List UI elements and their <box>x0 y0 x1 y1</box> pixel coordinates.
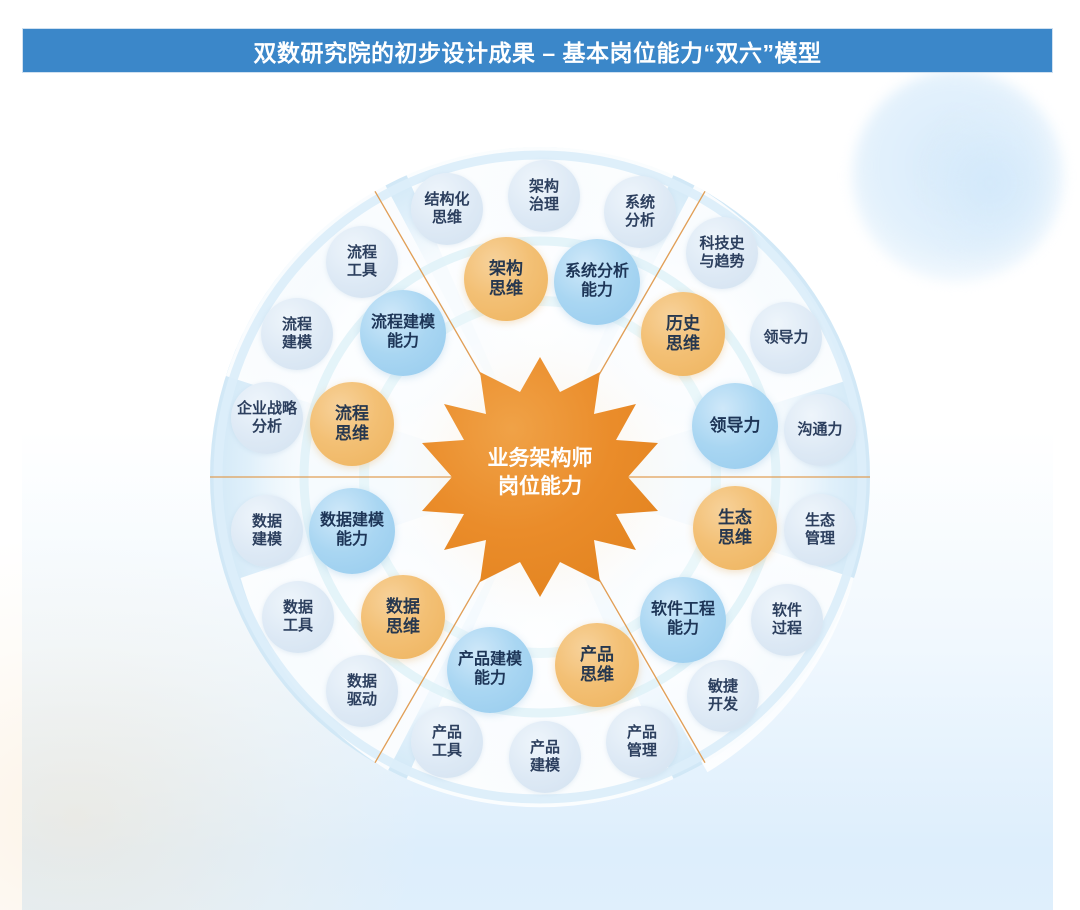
bubble-生态-capability[interactable]: 软件工程 能力 <box>640 577 726 663</box>
bubble-label: 科技史 与趋势 <box>699 235 744 270</box>
bubble-历史-knowledge-2[interactable]: 领导力 <box>750 302 822 374</box>
bubble-label: 领导力 <box>710 416 761 436</box>
bubble-历史-capability[interactable]: 领导力 <box>692 383 778 469</box>
bubble-label: 生态 管理 <box>805 512 835 547</box>
bubble-架构-capability[interactable]: 系统分析 能力 <box>554 239 640 325</box>
bubble-label: 历史 思维 <box>666 314 700 354</box>
bubble-label: 企业战略 分析 <box>237 400 297 435</box>
bubble-生态-knowledge-1[interactable]: 生态 管理 <box>784 494 856 566</box>
bubble-流程-knowledge-2[interactable]: 流程 建模 <box>261 298 333 370</box>
bubble-历史-knowledge-3[interactable]: 沟通力 <box>784 394 856 466</box>
bubble-label: 数据 驱动 <box>347 673 377 708</box>
bubble-label: 流程建模 能力 <box>371 314 435 352</box>
bubble-流程-knowledge-3[interactable]: 流程 工具 <box>326 226 398 298</box>
bubble-label: 结构化 思维 <box>424 191 469 226</box>
bubble-label: 产品建模 能力 <box>458 651 522 689</box>
bubble-产品-knowledge-3[interactable]: 产品 工具 <box>411 706 483 778</box>
bubble-流程-knowledge-1[interactable]: 企业战略 分析 <box>231 382 303 454</box>
bubble-数据-knowledge-3[interactable]: 数据 建模 <box>231 495 303 567</box>
bubble-label: 敏捷 开发 <box>708 678 738 713</box>
bubble-生态-core[interactable]: 生态 思维 <box>693 486 777 570</box>
bubble-label: 产品 工具 <box>432 724 462 759</box>
bubble-label: 系统分析 能力 <box>565 263 629 301</box>
bubble-label: 沟通力 <box>797 421 842 439</box>
page-title: 双数研究院的初步设计成果 – 基本岗位能力“双六”模型 <box>253 34 821 68</box>
bubble-label: 数据 工具 <box>283 599 313 634</box>
bubble-label: 流程 思维 <box>335 404 369 444</box>
bubble-数据-knowledge-1[interactable]: 数据 驱动 <box>326 655 398 727</box>
bubble-label: 软件 过程 <box>772 602 802 637</box>
bubble-生态-knowledge-3[interactable]: 敏捷 开发 <box>687 660 759 732</box>
bubble-label: 流程 建模 <box>282 316 312 351</box>
bubble-label: 数据 思维 <box>386 597 420 637</box>
bubble-label: 架构 思维 <box>489 259 523 299</box>
slide-title-bar: 双数研究院的初步设计成果 – 基本岗位能力“双六”模型 <box>22 28 1053 73</box>
bubble-生态-knowledge-2[interactable]: 软件 过程 <box>751 584 823 656</box>
bubble-label: 软件工程 能力 <box>651 601 715 639</box>
bubble-架构-knowledge-2[interactable]: 架构 治理 <box>508 160 580 232</box>
bubble-产品-knowledge-2[interactable]: 产品 建模 <box>509 721 581 793</box>
bubble-label: 产品 管理 <box>627 724 657 759</box>
bubble-label: 生态 思维 <box>718 508 752 548</box>
bubble-架构-core[interactable]: 架构 思维 <box>464 237 548 321</box>
bubble-label: 数据 建模 <box>252 513 282 548</box>
bubble-label: 产品 建模 <box>530 739 560 774</box>
bubble-数据-knowledge-2[interactable]: 数据 工具 <box>262 581 334 653</box>
bubble-架构-knowledge-1[interactable]: 结构化 思维 <box>411 173 483 245</box>
bubble-数据-capability[interactable]: 数据建模 能力 <box>309 488 395 574</box>
bubble-产品-capability[interactable]: 产品建模 能力 <box>447 627 533 713</box>
bubble-流程-core[interactable]: 流程 思维 <box>310 382 394 466</box>
bubble-数据-core[interactable]: 数据 思维 <box>361 575 445 659</box>
bubble-历史-core[interactable]: 历史 思维 <box>641 292 725 376</box>
bubble-label: 系统 分析 <box>625 194 655 229</box>
bubble-label: 领导力 <box>763 329 808 347</box>
bubble-label: 流程 工具 <box>347 244 377 279</box>
bubble-流程-capability[interactable]: 流程建模 能力 <box>360 290 446 376</box>
slide-page: 双数研究院的初步设计成果 – 基本岗位能力“双六”模型 <box>0 0 1080 910</box>
bubble-架构-knowledge-3[interactable]: 系统 分析 <box>604 176 676 248</box>
bubble-label: 数据建模 能力 <box>320 512 384 550</box>
bubble-label: 产品 思维 <box>580 645 614 685</box>
bubble-历史-knowledge-1[interactable]: 科技史 与趋势 <box>686 217 758 289</box>
bubble-产品-core[interactable]: 产品 思维 <box>555 623 639 707</box>
bubble-产品-knowledge-1[interactable]: 产品 管理 <box>606 706 678 778</box>
bubble-label: 架构 治理 <box>529 178 559 213</box>
